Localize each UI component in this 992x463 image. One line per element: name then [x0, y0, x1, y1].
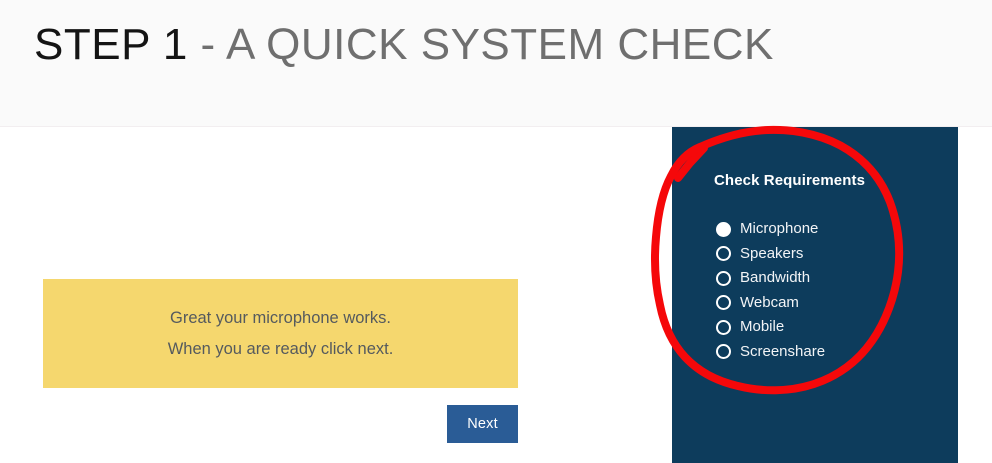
page-title: STEP 1 - A QUICK SYSTEM CHECK [34, 17, 774, 73]
requirement-item-mobile[interactable]: Mobile [716, 315, 946, 340]
check-requirements-panel: Check Requirements Microphone Speakers B… [672, 127, 958, 463]
next-button[interactable]: Next [447, 405, 518, 443]
status-banner-line-2: When you are ready click next. [168, 339, 394, 359]
requirement-label: Microphone [740, 220, 818, 238]
radio-empty-icon[interactable] [716, 320, 731, 335]
requirement-label: Webcam [740, 294, 799, 312]
status-banner-line-1: Great your microphone works. [170, 308, 391, 328]
radio-empty-icon[interactable] [716, 295, 731, 310]
requirement-item-speakers[interactable]: Speakers [716, 242, 946, 267]
requirement-label: Mobile [740, 318, 784, 336]
requirement-label: Screenshare [740, 343, 825, 361]
requirement-label: Speakers [740, 245, 803, 263]
requirement-item-microphone[interactable]: Microphone [716, 217, 946, 242]
requirements-list: Microphone Speakers Bandwidth Webcam Mob… [716, 217, 946, 364]
page-header: STEP 1 - A QUICK SYSTEM CHECK [0, 0, 992, 127]
page-title-rest: - A QUICK SYSTEM CHECK [188, 20, 774, 69]
radio-empty-icon[interactable] [716, 344, 731, 359]
requirement-item-bandwidth[interactable]: Bandwidth [716, 266, 946, 291]
check-requirements-title: Check Requirements [714, 172, 865, 189]
radio-empty-icon[interactable] [716, 271, 731, 286]
status-banner: Great your microphone works. When you ar… [43, 279, 518, 388]
radio-filled-icon[interactable] [716, 222, 731, 237]
page-title-step: STEP 1 [34, 20, 188, 69]
requirement-label: Bandwidth [740, 269, 810, 287]
requirement-item-screenshare[interactable]: Screenshare [716, 340, 946, 365]
screenshot-root: STEP 1 - A QUICK SYSTEM CHECK Great your… [0, 0, 992, 463]
requirement-item-webcam[interactable]: Webcam [716, 291, 946, 316]
radio-empty-icon[interactable] [716, 246, 731, 261]
